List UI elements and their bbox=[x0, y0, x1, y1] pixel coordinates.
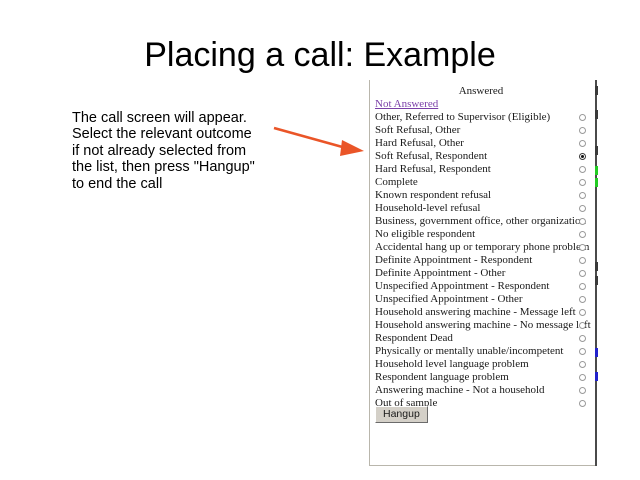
scrollbar-edge-mark bbox=[595, 262, 598, 271]
outcome-label: Accidental hang up or temporary phone pr… bbox=[375, 241, 589, 254]
radio-button[interactable] bbox=[579, 348, 586, 355]
outcome-row[interactable]: Soft Refusal, Other bbox=[370, 124, 598, 137]
scrollbar-edge-mark bbox=[595, 348, 598, 357]
outcome-label: Answering machine - Not a household bbox=[375, 384, 545, 397]
callout-arrow-icon bbox=[272, 118, 368, 164]
instruction-line: if not already selected from bbox=[72, 143, 282, 159]
instruction-line: The call screen will appear. bbox=[72, 110, 282, 126]
scrollbar-edge[interactable] bbox=[595, 80, 597, 466]
not-answered-link[interactable]: Not Answered bbox=[370, 98, 598, 111]
radio-button[interactable] bbox=[579, 127, 586, 134]
outcome-label: Soft Refusal, Respondent bbox=[375, 150, 487, 163]
instruction-line: the list, then press "Hangup" bbox=[72, 159, 282, 175]
outcome-row[interactable]: Unspecified Appointment - Respondent bbox=[370, 280, 598, 293]
outcome-row[interactable]: Answering machine - Not a household bbox=[370, 384, 598, 397]
outcome-label: Complete bbox=[375, 176, 418, 189]
outcome-row[interactable]: Other, Referred to Supervisor (Eligible) bbox=[370, 111, 598, 124]
radio-button-selected[interactable] bbox=[579, 153, 586, 160]
radio-button[interactable] bbox=[579, 374, 586, 381]
radio-button[interactable] bbox=[579, 322, 586, 329]
radio-button[interactable] bbox=[579, 114, 586, 121]
outcome-row[interactable]: Physically or mentally unable/incompeten… bbox=[370, 345, 598, 358]
outcome-row[interactable]: Respondent Dead bbox=[370, 332, 598, 345]
outcome-row[interactable]: Accidental hang up or temporary phone pr… bbox=[370, 241, 598, 254]
scrollbar-edge-mark bbox=[595, 146, 598, 155]
outcome-label: Household level language problem bbox=[375, 358, 529, 371]
radio-button[interactable] bbox=[579, 387, 586, 394]
outcome-label: Respondent language problem bbox=[375, 371, 509, 384]
radio-button[interactable] bbox=[579, 192, 586, 199]
outcome-label: Soft Refusal, Other bbox=[375, 124, 460, 137]
radio-button[interactable] bbox=[579, 270, 586, 277]
outcome-label: Definite Appointment - Respondent bbox=[375, 254, 532, 267]
outcome-row[interactable]: Soft Refusal, Respondent bbox=[370, 150, 598, 163]
outcome-label: Hard Refusal, Respondent bbox=[375, 163, 491, 176]
outcome-label: Physically or mentally unable/incompeten… bbox=[375, 345, 563, 358]
scrollbar-edge-mark bbox=[595, 276, 598, 285]
radio-button[interactable] bbox=[579, 400, 586, 407]
outcome-label: Unspecified Appointment - Other bbox=[375, 293, 523, 306]
outcome-label: No eligible respondent bbox=[375, 228, 475, 241]
outcome-label: Known respondent refusal bbox=[375, 189, 491, 202]
instruction-line: Select the relevant outcome bbox=[72, 126, 282, 142]
radio-button[interactable] bbox=[579, 166, 586, 173]
outcome-row[interactable]: Known respondent refusal bbox=[370, 189, 598, 202]
slide-canvas: Placing a call: Example The call screen … bbox=[0, 0, 640, 480]
outcome-label: Definite Appointment - Other bbox=[375, 267, 505, 280]
outcome-row[interactable]: Household level language problem bbox=[370, 358, 598, 371]
outcome-list[interactable]: Not AnsweredOther, Referred to Superviso… bbox=[370, 98, 598, 410]
outcome-label: Not Answered bbox=[375, 98, 438, 111]
radio-button[interactable] bbox=[579, 218, 586, 225]
scrollbar-edge-mark bbox=[595, 166, 598, 175]
outcome-row[interactable]: Household answering machine - Message le… bbox=[370, 306, 598, 319]
outcome-row[interactable]: No eligible respondent bbox=[370, 228, 598, 241]
radio-button[interactable] bbox=[579, 361, 586, 368]
scrollbar-edge-mark bbox=[595, 86, 598, 95]
outcome-row[interactable]: Hard Refusal, Respondent bbox=[370, 163, 598, 176]
page-title: Placing a call: Example bbox=[0, 36, 640, 75]
outcome-row[interactable]: Definite Appointment - Respondent bbox=[370, 254, 598, 267]
outcome-label: Business, government office, other organ… bbox=[375, 215, 586, 228]
scrollbar-edge-mark bbox=[595, 372, 598, 381]
answered-heading: Answered bbox=[370, 85, 592, 97]
outcome-row[interactable]: Complete bbox=[370, 176, 598, 189]
radio-button[interactable] bbox=[579, 257, 586, 264]
radio-button[interactable] bbox=[579, 296, 586, 303]
outcome-label: Household answering machine - No message… bbox=[375, 319, 591, 332]
outcome-row[interactable]: Hard Refusal, Other bbox=[370, 137, 598, 150]
radio-button[interactable] bbox=[579, 205, 586, 212]
outcome-label: Hard Refusal, Other bbox=[375, 137, 464, 150]
radio-button[interactable] bbox=[579, 244, 586, 251]
instruction-text: The call screen will appear. Select the … bbox=[72, 110, 282, 192]
outcome-label: Household-level refusal bbox=[375, 202, 480, 215]
scrollbar-edge-mark bbox=[595, 178, 598, 187]
radio-button[interactable] bbox=[579, 140, 586, 147]
outcome-row[interactable]: Definite Appointment - Other bbox=[370, 267, 598, 280]
outcome-label: Unspecified Appointment - Respondent bbox=[375, 280, 549, 293]
outcome-row[interactable]: Unspecified Appointment - Other bbox=[370, 293, 598, 306]
radio-button[interactable] bbox=[579, 179, 586, 186]
instruction-line: to end the call bbox=[72, 176, 282, 192]
outcome-label: Respondent Dead bbox=[375, 332, 453, 345]
radio-button[interactable] bbox=[579, 309, 586, 316]
radio-button[interactable] bbox=[579, 231, 586, 238]
outcome-row[interactable]: Household-level refusal bbox=[370, 202, 598, 215]
hangup-button[interactable]: Hangup bbox=[375, 406, 428, 423]
radio-button[interactable] bbox=[579, 283, 586, 290]
outcome-row[interactable]: Business, government office, other organ… bbox=[370, 215, 598, 228]
scrollbar-edge-mark bbox=[595, 110, 598, 119]
outcome-label: Other, Referred to Supervisor (Eligible) bbox=[375, 111, 550, 124]
call-screen-panel: Answered Not AnsweredOther, Referred to … bbox=[369, 80, 597, 466]
outcome-label: Household answering machine - Message le… bbox=[375, 306, 576, 319]
outcome-row[interactable]: Household answering machine - No message… bbox=[370, 319, 598, 332]
radio-button[interactable] bbox=[579, 335, 586, 342]
outcome-row[interactable]: Respondent language problem bbox=[370, 371, 598, 384]
